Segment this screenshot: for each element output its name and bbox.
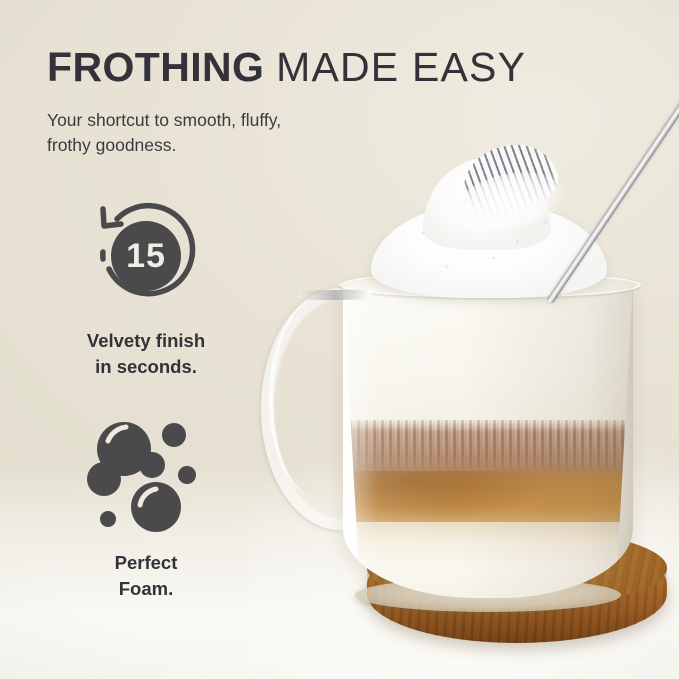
glass-handle-specular [299, 289, 371, 300]
feature-perfect-foam: Perfect Foam. [26, 418, 266, 603]
bubble-top-right [162, 423, 186, 447]
foam-bubbles-icon [26, 418, 266, 538]
milk-layer-bottom [343, 522, 633, 598]
bubble-bottom-left [100, 511, 116, 527]
coffee-feathered-layer [343, 420, 633, 474]
timer-badge-value: 15 [126, 237, 166, 275]
milk-layer-top [343, 280, 633, 426]
bubble-medium-left [87, 462, 121, 496]
latte-scene [255, 140, 679, 640]
feature-caption-foam: Perfect Foam. [26, 550, 266, 603]
glass-mug-body [343, 280, 633, 598]
drink-layers [343, 280, 633, 598]
feature-caption-velvety: Velvety finish in seconds. [26, 328, 266, 381]
bubble-mid-right [178, 466, 196, 484]
timer-15-seconds-icon: 15 [26, 196, 266, 316]
bubble-small-right [139, 452, 165, 478]
page-title-light: MADE EASY [276, 44, 526, 90]
feature-velvety-finish: 15 Velvety finish in seconds. [26, 196, 266, 381]
page-subtitle: Your shortcut to smooth, fluffy, frothy … [47, 108, 281, 158]
page-title: FROTHING MADE EASY [47, 44, 526, 91]
product-marketing-image: FROTHING MADE EASY Your shortcut to smoo… [0, 0, 679, 679]
caramel-espresso-layer [343, 471, 633, 528]
page-title-bold: FROTHING [47, 44, 264, 90]
